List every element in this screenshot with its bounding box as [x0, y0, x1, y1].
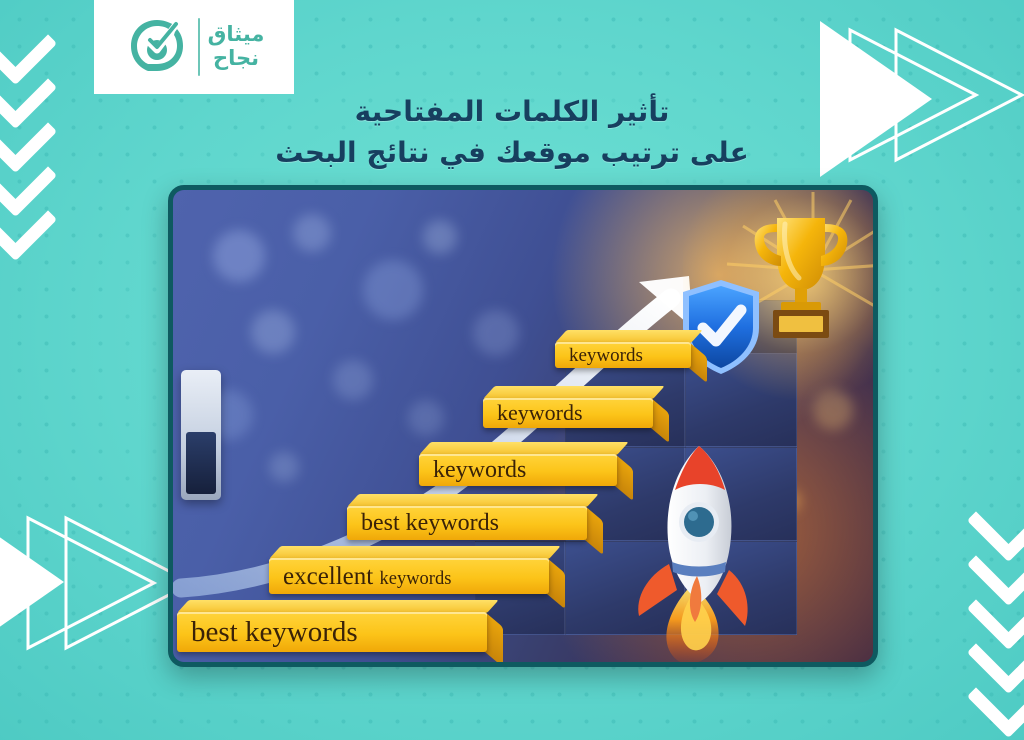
keyword-step: excellent keywords — [269, 546, 549, 594]
illustration-scene: keywords keywords keywords — [173, 190, 873, 662]
triangle-solid-icon — [0, 504, 64, 660]
chevron-icon — [0, 134, 57, 217]
triangle-solid-icon — [820, 21, 932, 177]
keyword-step: keywords — [555, 330, 691, 368]
chevron-icon — [967, 479, 1024, 562]
logo-wordmark: ميثاق نجاح — [208, 23, 265, 70]
side-device — [181, 370, 221, 500]
keyword-step-label: excellent — [283, 563, 373, 590]
chevron-icon — [0, 46, 57, 129]
keyword-step-label: best keywords — [177, 618, 358, 647]
keyword-step-sublabel: keywords — [379, 569, 451, 589]
title-line-1: تأثير الكلمات المفتاحية — [0, 92, 1024, 133]
logo-emblem-icon — [124, 14, 190, 80]
title-line-2: على ترتيب موقعك في نتائج البحث — [0, 133, 1024, 174]
brand-logo[interactable]: ميثاق نجاح — [94, 0, 294, 94]
keyword-step: best keywords — [347, 494, 587, 540]
chevron-icon — [0, 178, 57, 261]
rocket-icon — [625, 440, 777, 662]
keyword-step-label: keywords — [483, 402, 583, 424]
triangle-outline-icon — [836, 20, 986, 170]
poster-canvas: ميثاق نجاح تأثير الكلمات المفتاحية على ت… — [0, 0, 1024, 740]
keyword-step: keywords — [483, 386, 653, 428]
illustration-frame: keywords keywords keywords — [168, 185, 878, 667]
keyword-step-label: keywords — [419, 458, 526, 482]
keyword-step-label: keywords — [555, 346, 643, 365]
chevron-icon — [967, 655, 1024, 738]
keyword-step: keywords — [419, 442, 617, 486]
keyword-step: best keywords — [177, 600, 487, 652]
chevron-icon — [0, 90, 57, 173]
triangle-outline-icon — [14, 508, 164, 658]
page-title: تأثير الكلمات المفتاحية على ترتيب موقعك … — [0, 92, 1024, 173]
logo-word-bottom: نجاح — [213, 47, 259, 71]
chevron-icon — [967, 567, 1024, 650]
logo-divider — [198, 18, 200, 76]
chevron-icon — [967, 611, 1024, 694]
triangle-outline-icon — [882, 20, 1024, 170]
keyword-step-label: best keywords — [347, 511, 499, 535]
chevron-icon — [967, 523, 1024, 606]
chevron-icon — [0, 2, 57, 85]
logo-word-top: ميثاق — [208, 23, 265, 47]
